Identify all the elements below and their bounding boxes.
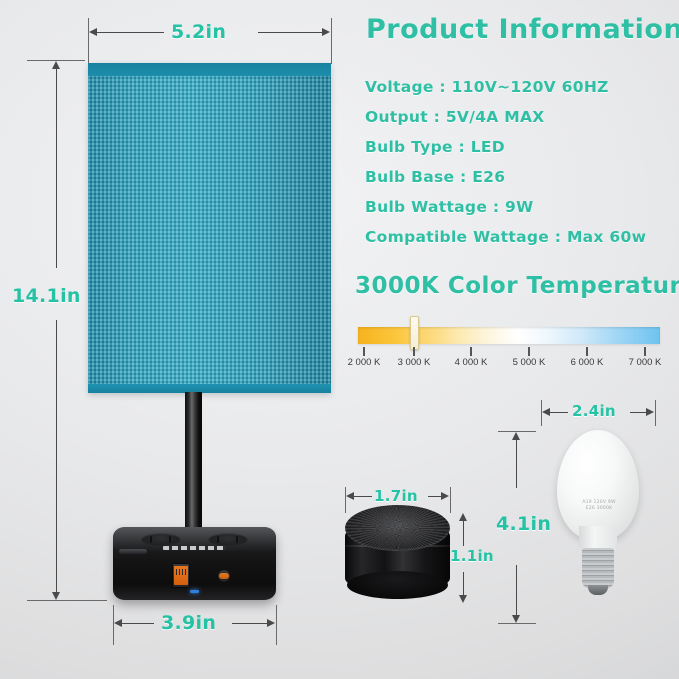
lamp-height-line-bottom <box>56 320 57 592</box>
bulb-height-arrow-up <box>512 432 520 440</box>
bulb-height-line-top <box>516 438 517 488</box>
bulb-height-arrow-down <box>512 615 520 623</box>
puck-brushed-top[interactable] <box>345 505 450 551</box>
lamp-base <box>113 527 276 600</box>
bulb-width-label: 2.4in <box>572 402 616 420</box>
color-temperature-title: 3000K Color Temperature <box>355 273 679 299</box>
cct-tick-label: 2 000 K <box>348 357 381 368</box>
product-infographic: 5.2in 14.1in 3.9in <box>0 0 679 679</box>
cct-tick <box>470 347 472 356</box>
outlet-slot <box>236 536 238 543</box>
ac-outlet-right <box>208 533 248 546</box>
bulb-width-arrow-right <box>646 408 654 416</box>
lamp-height-bottom-cap <box>27 600 107 601</box>
shade-width-line-left <box>96 32 164 33</box>
spec-line-compatible-watt: Compatible Wattage : Max 60w <box>365 228 646 246</box>
puck-height-label: 1.1in <box>450 547 494 565</box>
cct-tick <box>644 347 646 356</box>
base-width-right-cap <box>276 605 277 645</box>
led-bulb: A19 120V 9W E26 3000K <box>557 430 639 595</box>
base-width-line-left <box>121 623 154 624</box>
shade-width-left-cap <box>88 18 89 64</box>
puck-bottom <box>347 571 448 599</box>
usb-a-port <box>172 563 190 588</box>
spec-line-voltage: Voltage : 110V~120V 60HZ <box>365 78 609 96</box>
base-width-arrow-left <box>114 619 122 627</box>
bulb-height-label: 4.1in <box>496 513 551 535</box>
cct-tick <box>413 347 415 356</box>
bulb-contact-tip <box>588 585 608 595</box>
shade-width-arrow-left <box>89 28 97 36</box>
color-temperature-marker <box>410 316 419 350</box>
outlet-slot <box>217 536 219 543</box>
lamp-height-arrow-up <box>52 61 60 69</box>
bulb-printed-spec: A19 120V 9W E26 3000K <box>573 500 625 512</box>
usb-c-port-inner <box>219 573 229 579</box>
cct-tick-label: 5 000 K <box>513 357 546 368</box>
cct-tick <box>528 347 530 356</box>
puck-height-arrow-down <box>459 595 467 603</box>
puck-height-line-top <box>463 520 464 546</box>
usb-c-port <box>217 569 231 583</box>
puck-height-line-bottom <box>463 572 464 596</box>
base-light-strip <box>163 546 226 550</box>
bulb-e26-screw-base <box>582 548 614 588</box>
base-width-line-right <box>232 623 268 624</box>
cct-tick-label: 6 000 K <box>571 357 604 368</box>
page-title: Product Information <box>366 14 679 45</box>
shade-width-line-right <box>258 32 323 33</box>
base-width-label: 3.9in <box>161 612 216 634</box>
color-temperature-gradient-bar <box>358 327 660 344</box>
bulb-width-line-left <box>548 412 568 413</box>
puck-width-right-cap <box>450 487 451 513</box>
spec-line-bulb-base: Bulb Base : E26 <box>365 168 505 186</box>
puck-width-arrow-left <box>346 492 354 500</box>
spec-line-output: Output : 5V/4A MAX <box>365 108 545 126</box>
puck-width-label: 1.7in <box>374 487 418 505</box>
ac-outlet-left <box>141 533 181 546</box>
outlet-slot <box>150 536 152 543</box>
lamp-height-arrow-down <box>52 592 60 600</box>
spec-line-bulb-type: Bulb Type : LED <box>365 138 505 156</box>
lamp-shade <box>88 63 331 393</box>
cct-tick-label: 4 000 K <box>455 357 488 368</box>
puck-width-line-left <box>352 496 372 497</box>
cct-tick <box>586 347 588 356</box>
lamp-base-top-surface <box>113 527 276 551</box>
bulb-height-line-bottom <box>516 565 517 615</box>
usb-a-port-inner <box>174 566 188 585</box>
lamp-height-line-top <box>56 68 57 268</box>
bulb-glass-dome <box>557 430 639 540</box>
bulb-print-line2: E26 3000K <box>573 506 625 512</box>
puck-width-arrow-right <box>441 492 449 500</box>
cct-tick-label: 7 000 K <box>629 357 662 368</box>
puck-height-arrow-up <box>459 513 467 521</box>
dimmer-puck <box>345 505 450 601</box>
bulb-width-right-cap <box>655 400 656 426</box>
cct-tick <box>363 347 365 356</box>
shade-width-right-cap <box>331 18 332 64</box>
bulb-width-arrow-left <box>542 408 550 416</box>
lamp-pole <box>185 392 202 532</box>
power-indicator-led <box>190 590 199 593</box>
shade-width-label: 5.2in <box>171 21 226 43</box>
bulb-height-bottom-cap <box>498 623 536 624</box>
cct-tick-label: 3 000 K <box>398 357 431 368</box>
lamp-height-label: 14.1in <box>12 285 81 307</box>
base-width-arrow-right <box>267 619 275 627</box>
spec-line-bulb-watt: Bulb Wattage : 9W <box>365 198 534 216</box>
outlet-slot <box>169 536 171 543</box>
base-side-button[interactable] <box>119 549 147 554</box>
shade-width-arrow-right <box>322 28 330 36</box>
